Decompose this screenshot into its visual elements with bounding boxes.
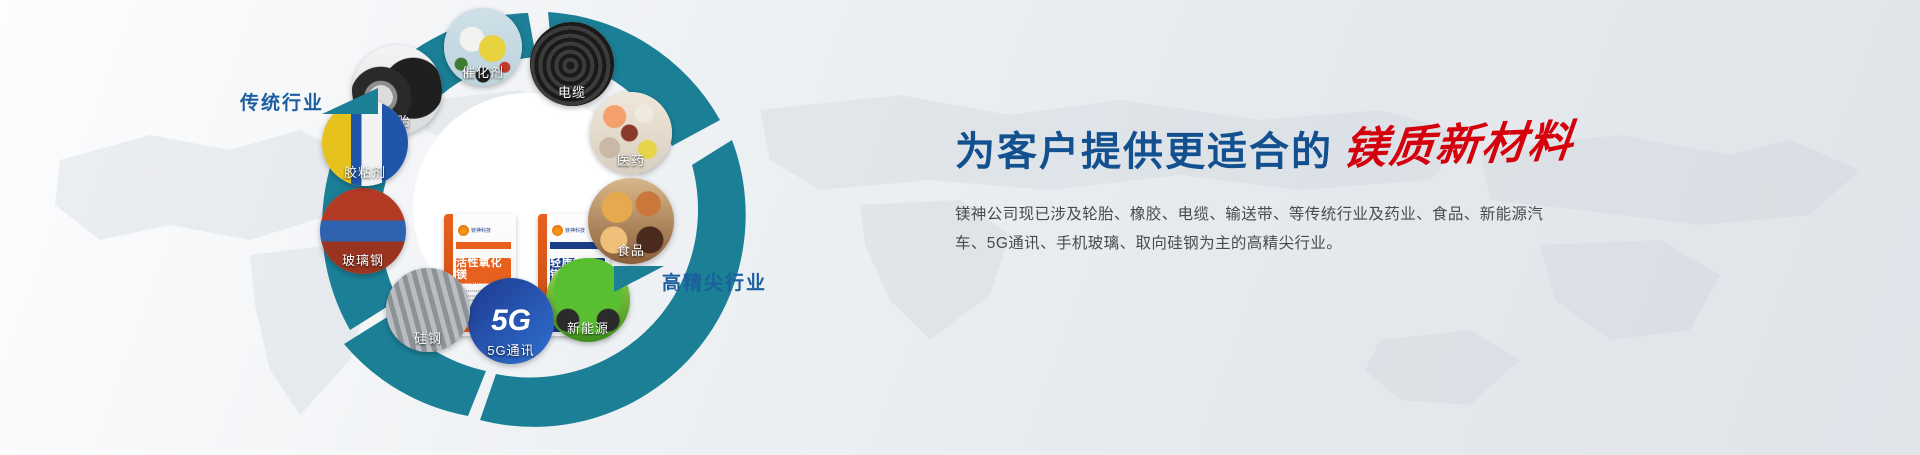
- node-catalyst[interactable]: 催化剂: [444, 8, 522, 86]
- node-label: 催化剂: [444, 60, 522, 86]
- node-silicon-steel[interactable]: 硅钢: [386, 268, 470, 352]
- node-label: 胶粘剂: [322, 160, 408, 186]
- node-label: 玻璃钢: [320, 248, 406, 274]
- bag-brand-text: 镁神科技: [471, 227, 491, 234]
- node-label: 新能源: [546, 316, 630, 342]
- industry-diagram: 镁神科技 活性氧化镁 Active Magnesium oxide □□□□□□…: [300, 0, 820, 450]
- hightech-pointer-icon: [612, 262, 666, 296]
- node-pharmacy[interactable]: 医药: [590, 92, 672, 174]
- node-food[interactable]: 食品: [588, 178, 674, 264]
- copy-block: 为客户提供更适合的 镁质新材料 镁神公司现已涉及轮胎、橡胶、电缆、输送带、等传统…: [955, 128, 1595, 274]
- section-label-hightech: 高精尖行业: [662, 268, 767, 295]
- headline-blue: 为客户提供更适合的: [955, 132, 1333, 172]
- bag-band: [456, 242, 511, 249]
- section-label-traditional: 传统行业: [240, 88, 324, 115]
- node-frp[interactable]: 玻璃钢: [320, 188, 406, 274]
- sun-logo-icon: [458, 225, 469, 236]
- node-label: 硅钢: [386, 326, 470, 352]
- node-5g[interactable]: 5G 5G通讯: [468, 278, 554, 364]
- headline-red: 镁质新材料: [1341, 120, 1577, 172]
- bag-brand: 镁神科技: [458, 222, 511, 238]
- bag-brand-text: 镁神科技: [565, 227, 585, 234]
- headline: 为客户提供更适合的 镁质新材料: [955, 128, 1595, 172]
- banner-stage: 镁神科技 活性氧化镁 Active Magnesium oxide □□□□□□…: [0, 0, 1920, 450]
- node-label: 5G通讯: [468, 338, 554, 364]
- traditional-pointer-icon: [320, 84, 380, 118]
- description-paragraph: 镁神公司现已涉及轮胎、橡胶、电缆、输送带、等传统行业及药业、食品、新能源汽车、5…: [955, 200, 1555, 258]
- sun-logo-icon: [552, 225, 563, 236]
- node-label: 医药: [590, 148, 672, 174]
